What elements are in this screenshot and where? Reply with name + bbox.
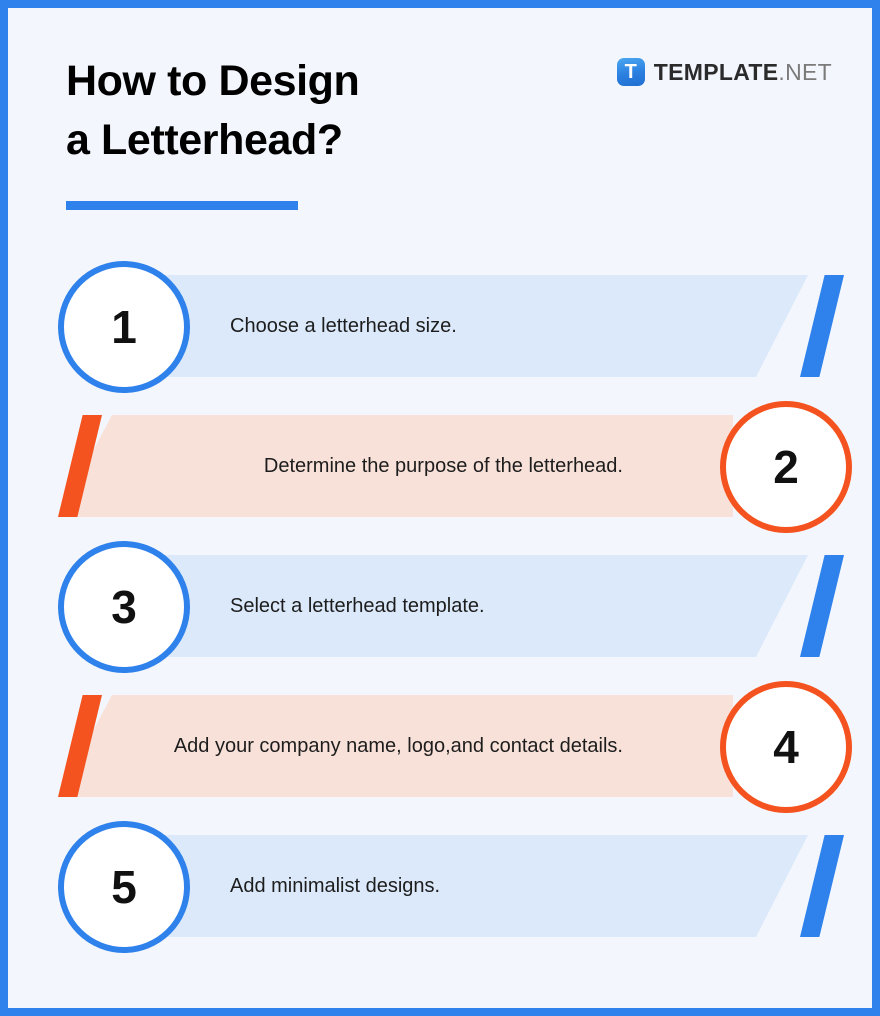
- step-item-1: Choose a letterhead size. 1: [8, 256, 872, 396]
- step-accent-slash-5: [800, 835, 844, 937]
- step-number-badge-5: 5: [58, 821, 190, 953]
- step-text-3: Select a letterhead template.: [230, 593, 485, 619]
- step-item-4: Add your company name, logo,and contact …: [8, 676, 872, 816]
- step-number-badge-1: 1: [58, 261, 190, 393]
- step-accent-slash-3: [800, 555, 844, 657]
- steps-list: Choose a letterhead size. 1 Determine th…: [8, 256, 872, 956]
- brand-name: TEMPLATE: [654, 59, 779, 86]
- brand-suffix: .NET: [778, 59, 832, 86]
- step-band-2: Determine the purpose of the letterhead.: [58, 415, 733, 517]
- step-band-1: Choose a letterhead size.: [158, 275, 808, 377]
- infographic-poster: How to Design a Letterhead? T TEMPLATE .…: [8, 8, 872, 1008]
- step-number-badge-3: 3: [58, 541, 190, 673]
- template-logo-icon: T: [617, 58, 645, 86]
- brand-logo[interactable]: T TEMPLATE .NET: [617, 56, 832, 88]
- step-text-4: Add your company name, logo,and contact …: [174, 733, 623, 759]
- step-band-4: Add your company name, logo,and contact …: [58, 695, 733, 797]
- step-band-5: Add minimalist designs.: [158, 835, 808, 937]
- page-title: How to Design a Letterhead?: [66, 52, 359, 171]
- step-text-5: Add minimalist designs.: [230, 873, 440, 899]
- step-number-badge-2: 2: [720, 401, 852, 533]
- step-item-3: Select a letterhead template. 3: [8, 536, 872, 676]
- step-band-3: Select a letterhead template.: [158, 555, 808, 657]
- step-item-2: Determine the purpose of the letterhead.…: [8, 396, 872, 536]
- title-underline-rule: [66, 201, 298, 210]
- step-text-1: Choose a letterhead size.: [230, 313, 457, 339]
- poster-header: How to Design a Letterhead? T TEMPLATE .…: [8, 8, 872, 223]
- step-item-5: Add minimalist designs. 5: [8, 816, 872, 956]
- step-number-badge-4: 4: [720, 681, 852, 813]
- step-text-2: Determine the purpose of the letterhead.: [264, 453, 623, 479]
- step-accent-slash-1: [800, 275, 844, 377]
